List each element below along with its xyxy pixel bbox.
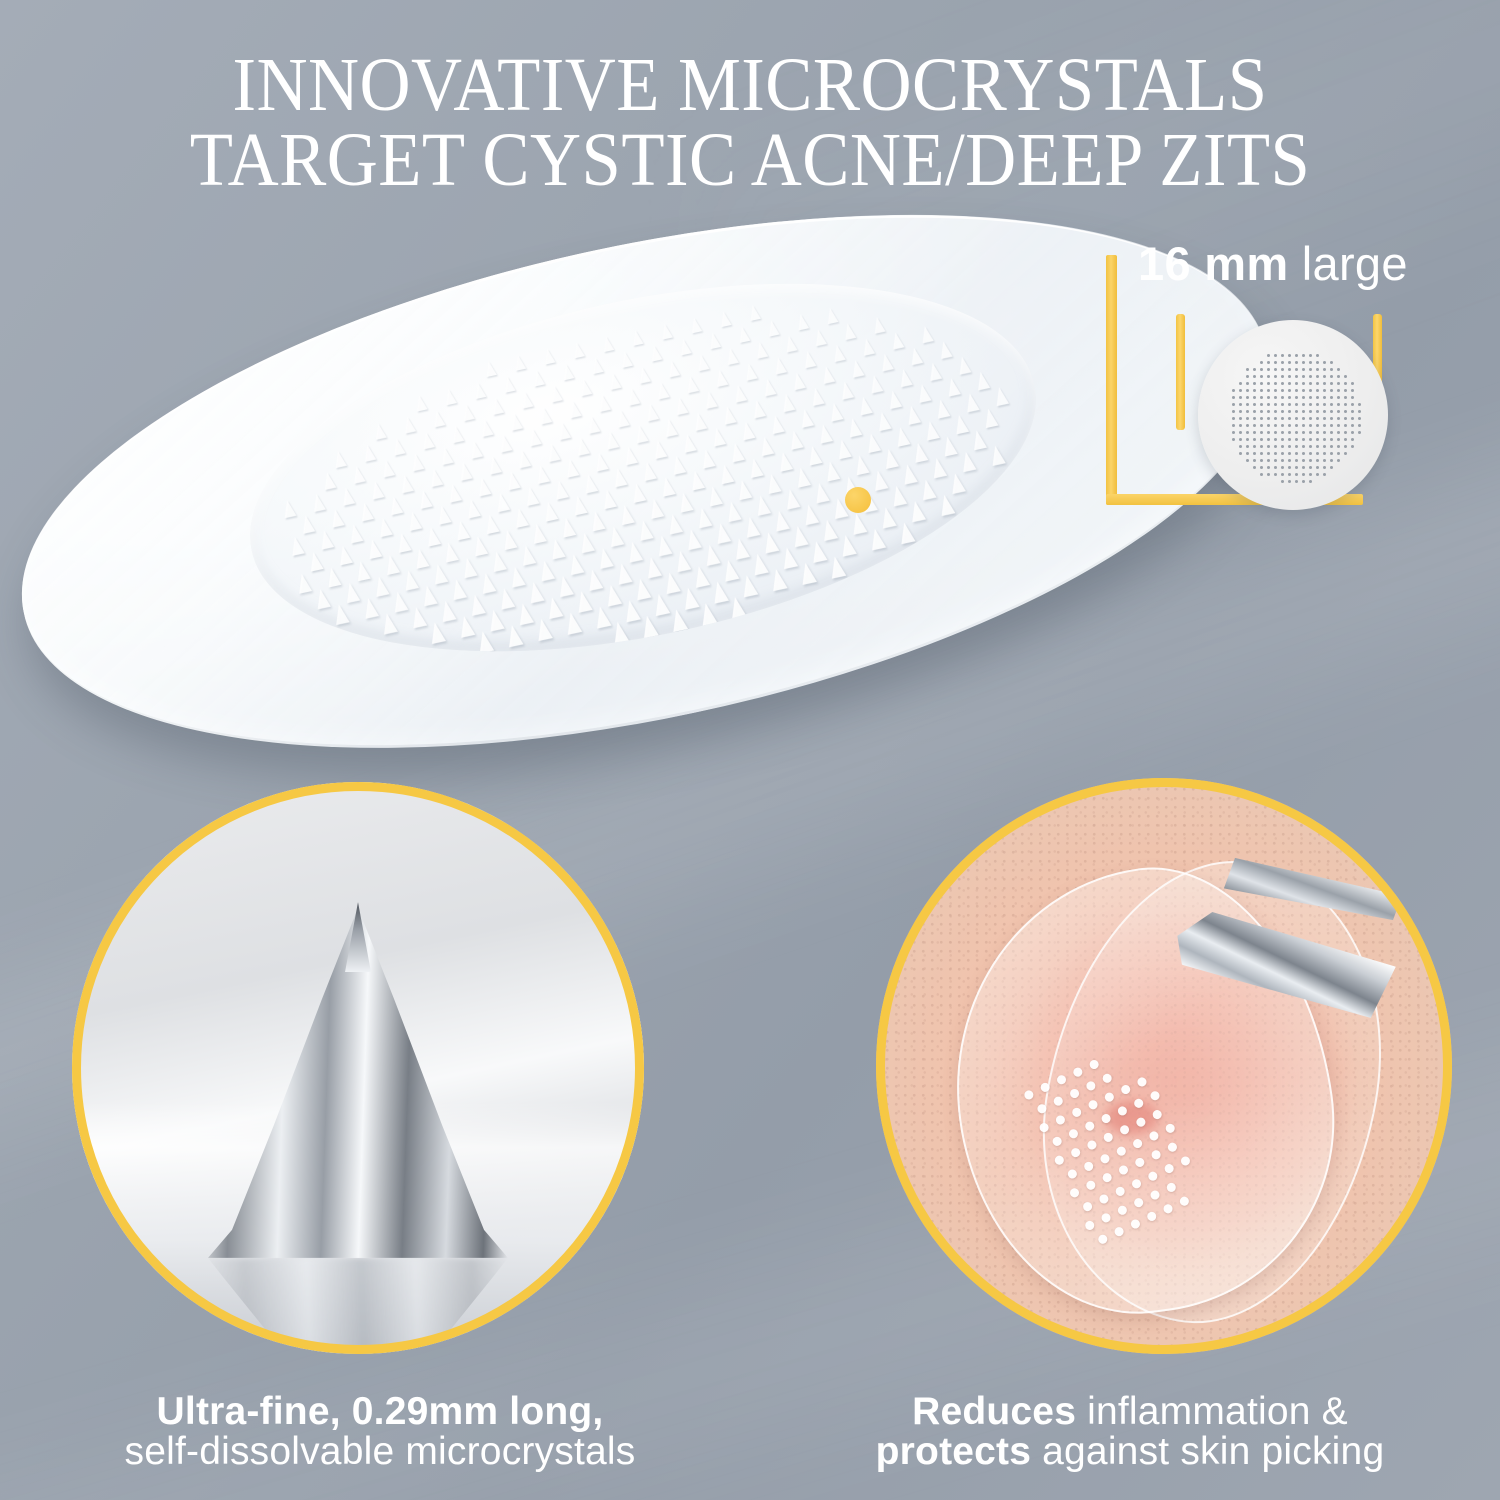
mini-patch-dot <box>1344 431 1347 434</box>
microneedle-cone-icon <box>611 620 630 644</box>
microneedle-cone-icon <box>560 516 577 537</box>
microneedle-cone-icon <box>365 538 382 559</box>
patch-microneedle-dot <box>1178 1195 1190 1207</box>
microneedle-cone-icon <box>706 485 723 506</box>
mini-patch-dot <box>1288 396 1291 399</box>
mini-patch-dot <box>1302 473 1305 476</box>
mini-patch-dot <box>1260 361 1263 364</box>
mini-patch-dot <box>1316 438 1319 441</box>
microneedle-cone-icon <box>710 580 729 604</box>
mini-patch-dot <box>1232 431 1235 434</box>
mini-patch-dot <box>1316 389 1319 392</box>
caption-right-line-1: Reduces inflammation & <box>770 1392 1490 1432</box>
mini-patch-dot <box>1295 417 1298 420</box>
mini-patch-dot <box>1260 452 1263 455</box>
patch-microneedle-dot <box>1056 1074 1068 1086</box>
mini-patch-dot <box>1330 459 1333 462</box>
mini-patch-dot <box>1281 417 1284 420</box>
microneedle-cone-icon <box>630 329 643 346</box>
mini-patch-dot <box>1302 417 1305 420</box>
mini-patch-dot <box>1309 410 1312 413</box>
microneedle-cone-icon <box>501 529 518 550</box>
microneedle-cone-icon <box>872 316 886 334</box>
patch-microneedle-dot <box>1131 1178 1143 1190</box>
mini-patch-dot <box>1302 445 1305 448</box>
microneedle-cone-icon <box>648 498 665 519</box>
mini-patch-dot <box>1337 417 1340 420</box>
microneedle-cone-icon <box>332 603 350 625</box>
mini-patch-dot <box>1302 382 1305 385</box>
microneedle-cone-icon <box>728 595 747 619</box>
microneedle-cone-icon <box>504 624 523 648</box>
mini-patch-circle-icon <box>1198 320 1388 510</box>
mini-patch-dot <box>1239 410 1242 413</box>
microneedle-cone-icon <box>563 458 579 478</box>
mini-patch-dot <box>1267 452 1270 455</box>
mini-patch-dot <box>1302 368 1305 371</box>
microneedle-cone-icon <box>351 465 366 484</box>
microneedle-cone-icon <box>696 353 710 371</box>
microneedle-cone-icon <box>607 525 624 547</box>
mini-patch-dot <box>1274 445 1277 448</box>
mini-patch-dot <box>1232 396 1235 399</box>
microneedle-cone-icon <box>717 464 734 485</box>
patch-microneedle-dot <box>1084 1219 1096 1231</box>
mini-patch-dot <box>1281 473 1284 476</box>
mini-patch-dot <box>1302 410 1305 413</box>
mini-patch-dot <box>1330 375 1333 378</box>
microneedle-cone-icon <box>483 513 500 534</box>
microneedle-cone-icon <box>691 565 709 588</box>
patch-microneedle-dot <box>1068 1128 1080 1140</box>
microneedle-cone-icon <box>776 451 793 472</box>
microneedle-cone-icon <box>402 416 416 434</box>
mini-patch-dot <box>1274 452 1277 455</box>
mini-patch-dot <box>1323 417 1326 420</box>
mini-patch-dot <box>1274 459 1277 462</box>
caption-right: Reduces inflammation & protects against … <box>770 1392 1490 1472</box>
mini-patch-dot <box>1246 382 1249 385</box>
microneedle-cone-icon <box>361 597 379 619</box>
microneedle-cone-icon <box>515 602 533 625</box>
microneedle-cone-icon <box>431 563 448 585</box>
mini-patch-dot <box>1295 375 1298 378</box>
microneedle-cone-icon <box>831 344 846 362</box>
patch-microneedle-dot <box>1163 1163 1175 1175</box>
microneedle-cone-icon <box>871 469 888 491</box>
microneedle-cone-icon <box>707 332 721 349</box>
mini-patch-dot <box>1260 382 1263 385</box>
microneedle-cone-icon <box>585 568 603 591</box>
microneedle-cone-icon <box>538 406 553 424</box>
mini-patch-dot <box>1260 410 1263 413</box>
microneedle-cone-icon <box>600 489 617 510</box>
patch-microneedle-dots <box>1023 1046 1197 1251</box>
mini-patch-dot <box>1239 431 1242 434</box>
mini-patch-dot <box>1302 375 1305 378</box>
callout-measurement: 16 mm <box>1138 237 1288 290</box>
mini-patch-dot <box>1267 459 1270 462</box>
mini-patch-dot <box>1288 459 1291 462</box>
mini-patch-dot <box>1344 417 1347 420</box>
microneedle-cone-icon <box>545 596 563 619</box>
microneedle-cone-icon <box>754 494 771 516</box>
patch-microneedle-dot <box>1119 1124 1131 1136</box>
microneedle-cone-icon <box>468 593 486 616</box>
mini-patch-dot <box>1351 382 1354 385</box>
microneedle-cone-icon <box>509 412 524 430</box>
mini-patch-dot <box>1274 389 1277 392</box>
patch-microneedle-dot <box>1070 1147 1082 1159</box>
microneedle-cone-icon <box>773 356 788 374</box>
mini-patch-dot <box>1288 389 1291 392</box>
microneedle-cone-icon <box>919 325 934 343</box>
mini-patch-dot <box>1337 452 1340 455</box>
mini-patch-dot <box>1344 438 1347 441</box>
mini-patch-dot <box>1246 417 1249 420</box>
mini-patch-dot <box>1330 389 1333 392</box>
microneedle-cone-icon <box>475 477 491 497</box>
microneedle-cone-icon <box>688 470 705 491</box>
measure-tick-left-icon <box>1176 314 1185 430</box>
microneedle-cone-icon <box>486 608 504 631</box>
microneedle-cone-icon <box>758 436 774 456</box>
microneedle-cone-icon <box>839 380 854 399</box>
microneedle-cone-icon <box>747 457 764 478</box>
mini-patch-dot <box>1246 375 1249 378</box>
mini-patch-dot <box>1295 473 1298 476</box>
mini-patch-dot <box>1288 354 1291 357</box>
mini-patch-dot <box>1358 410 1361 413</box>
mini-patch-dot <box>1309 480 1312 483</box>
patch-microneedle-dot <box>1082 1201 1094 1213</box>
microneedle-cone-icon <box>699 448 715 468</box>
microneedle-cone-icon <box>531 369 545 386</box>
patch-microneedle-dot <box>1103 1091 1115 1103</box>
patch-microneedle-dot <box>1071 1106 1083 1118</box>
mini-patch-dot <box>1274 431 1277 434</box>
microneedle-cone-icon <box>868 374 883 393</box>
mini-patch-dot <box>1309 389 1312 392</box>
mini-patch-dot <box>1337 368 1340 371</box>
mini-patch-dot <box>1330 466 1333 469</box>
microneedle-cone-icon <box>893 426 910 447</box>
mini-patch-dot <box>1232 389 1235 392</box>
mini-patch-dot <box>1337 431 1340 434</box>
patch-microneedle-dot <box>1148 1130 1160 1142</box>
mini-patch-dot <box>1267 438 1270 441</box>
mini-patch-dot <box>1337 375 1340 378</box>
microneedle-cone-icon <box>666 360 680 378</box>
microneedle-cone-icon <box>853 454 870 475</box>
microneedle-cone-icon <box>783 488 800 510</box>
mini-patch-dot <box>1323 368 1326 371</box>
microneedle-cone-icon <box>534 464 550 484</box>
microneedle-cone-icon <box>461 403 475 421</box>
microneedle-cone-icon <box>373 575 390 597</box>
microneedle-cone-icon <box>750 552 768 575</box>
microneedle-cone-icon <box>593 452 609 472</box>
microneedle-cone-icon <box>457 615 475 638</box>
mini-patch-dot <box>1288 466 1291 469</box>
microneedle-cone-icon <box>391 437 406 455</box>
mini-patch-dot <box>1274 361 1277 364</box>
mini-patch-dot <box>1351 396 1354 399</box>
mini-patch-dot <box>1246 403 1249 406</box>
mini-patch-dot <box>1302 389 1305 392</box>
patch-microneedle-dot <box>1051 1135 1063 1147</box>
mini-patch-dot <box>1274 466 1277 469</box>
microneedle-cone-icon <box>861 337 876 355</box>
mini-patch-dot <box>1274 368 1277 371</box>
microneedle-cone-icon <box>629 482 646 503</box>
mini-patch-dot <box>1267 361 1270 364</box>
mini-patch-dot <box>1239 382 1242 385</box>
patch-microneedle-dot <box>1102 1131 1114 1143</box>
mini-patch-dot <box>1274 417 1277 420</box>
microneedle-cone-icon <box>802 350 817 368</box>
mini-patch-dot <box>1351 438 1354 441</box>
microneedle-cone-icon <box>685 375 700 393</box>
mini-patch-dot <box>1302 431 1305 434</box>
callout-qualifier: large <box>1288 237 1407 290</box>
patch-microneedle-dot <box>1149 1090 1161 1102</box>
microneedle-cone-icon <box>948 472 966 494</box>
mini-patch-dot <box>1281 480 1284 483</box>
microneedle-cone-icon <box>875 411 891 431</box>
mini-patch-dot <box>1253 403 1256 406</box>
microneedle-cone-icon <box>692 412 707 431</box>
microneedle-cone-icon <box>857 396 873 416</box>
microneedle-cone-icon <box>970 429 987 450</box>
mini-patch-dot <box>1330 452 1333 455</box>
patch-microneedle-dot <box>1036 1103 1048 1115</box>
microneedle-cone-icon <box>519 544 536 566</box>
mini-patch-dot <box>1337 424 1340 427</box>
mini-patch-dot <box>1337 438 1340 441</box>
microneedle-cone-icon <box>743 362 758 380</box>
mini-patch-dot <box>1281 452 1284 455</box>
microneedle-cone-icon <box>421 431 436 449</box>
microneedle-cone-icon <box>516 449 531 468</box>
microneedle-cone-icon <box>828 402 844 422</box>
mini-patch-dot <box>1344 403 1347 406</box>
mini-patch-dot <box>1232 438 1235 441</box>
mini-patch-dot <box>1267 396 1270 399</box>
microneedle-cone-icon <box>314 588 331 610</box>
mini-patch-dot <box>1246 431 1249 434</box>
microneedle-cone-icon <box>725 347 739 365</box>
microneedle-cone-icon <box>347 523 363 543</box>
microneedle-cone-icon <box>677 338 691 355</box>
mini-patch-dot <box>1309 354 1312 357</box>
microneedle-cone-icon <box>651 439 667 459</box>
mini-patch-dot <box>1302 452 1305 455</box>
patch-microneedle-dot <box>1098 1193 1110 1205</box>
mini-patch-dot <box>1260 424 1263 427</box>
microneedle-cone-icon <box>526 581 544 604</box>
mini-patch-dot <box>1316 375 1319 378</box>
mini-patch-dot <box>1309 431 1312 434</box>
microneedle-cone-icon <box>541 501 558 522</box>
microneedle-cone-icon <box>680 586 699 610</box>
patch-microneedle-dot <box>1116 1105 1128 1117</box>
microneedle-cone-icon <box>402 569 419 591</box>
mini-patch-dot <box>1267 445 1270 448</box>
mini-patch-dot <box>1260 389 1263 392</box>
microneedle-cone-icon <box>615 409 630 428</box>
microneedle-cone-icon <box>739 574 758 598</box>
microneedle-cone-icon <box>376 517 392 537</box>
mini-patch-dot <box>1267 417 1270 420</box>
mini-patch-dot <box>1309 382 1312 385</box>
mini-patch-dot <box>1239 396 1242 399</box>
mini-patch-dot <box>1274 375 1277 378</box>
microneedle-cone-icon <box>479 572 497 594</box>
mini-patch-dot <box>1309 417 1312 420</box>
microneedle-cone-icon <box>321 471 336 490</box>
mini-patch-dot <box>1323 438 1326 441</box>
microneedle-cone-icon <box>673 550 691 573</box>
mini-patch-dot <box>1246 410 1249 413</box>
microneedle-cone-icon <box>662 571 680 594</box>
microneedle-cone-icon <box>728 442 744 462</box>
mini-patch-dot <box>1337 389 1340 392</box>
mini-patch-dot <box>1323 452 1326 455</box>
mini-patch-dot <box>1295 410 1298 413</box>
mini-patch-dot <box>1316 403 1319 406</box>
caption-left-line-2: self-dissolvable microcrystals <box>20 1432 740 1472</box>
microneedle-cone-icon <box>809 387 824 406</box>
mini-patch-dot <box>1281 431 1284 434</box>
microneedle-cone-icon <box>498 434 513 453</box>
mini-patch-dot <box>1337 445 1340 448</box>
microneedle-cone-icon <box>655 381 670 399</box>
microneedle-cone-icon <box>563 611 582 635</box>
patch-microneedle-dot <box>1135 1116 1147 1128</box>
mini-patch-dot <box>1309 452 1312 455</box>
microneedle-cone-icon <box>640 461 656 481</box>
mini-patch-dot <box>1239 452 1242 455</box>
microneedle-cone-icon <box>794 466 811 487</box>
mini-patch-dot <box>1267 368 1270 371</box>
microneedle-cone-icon <box>677 491 694 512</box>
mini-patch-dot <box>1323 473 1326 476</box>
microneedle-cone-icon <box>567 553 585 575</box>
mini-patch-dot <box>1344 452 1347 455</box>
mini-patch-dot <box>1302 438 1305 441</box>
mini-patch-dot <box>1253 382 1256 385</box>
mini-patch-dot <box>1246 424 1249 427</box>
mini-patch-dot <box>1323 375 1326 378</box>
mini-patch-dot <box>1309 361 1312 364</box>
mini-patch-dot <box>1330 417 1333 420</box>
mini-patch-dot <box>1288 410 1291 413</box>
microneedle-cone-icon <box>798 408 814 428</box>
mini-patch-dot <box>1274 424 1277 427</box>
microneedle-cone-icon <box>380 612 398 635</box>
mini-patch-dot <box>1316 354 1319 357</box>
mini-patch-dot <box>1351 431 1354 434</box>
caption-left-line-1: Ultra-fine, 0.29mm long, <box>20 1392 740 1432</box>
microneedle-cone-icon <box>299 514 315 534</box>
patch-microneedle-dot <box>1151 1109 1163 1121</box>
mini-patch-dot <box>1246 368 1249 371</box>
mini-patch-dot <box>1274 396 1277 399</box>
mini-patch-dot <box>1337 382 1340 385</box>
microneedle-cone-icon <box>718 310 731 327</box>
patch-microneedle-dot <box>1115 1145 1127 1157</box>
mini-patch-dot <box>1351 424 1354 427</box>
microneedle-cone-icon <box>420 584 438 606</box>
microneedle-cone-icon <box>549 384 563 402</box>
size-callout: 16 mm large <box>1090 236 1490 536</box>
mini-patch-dot <box>1295 354 1298 357</box>
microneedle-cone-icon <box>670 455 686 475</box>
mini-patch-dot <box>1330 361 1333 364</box>
microneedle-cone-icon <box>890 331 905 349</box>
microneedle-cone-icon <box>989 444 1006 466</box>
mini-patch-dot <box>1323 466 1326 469</box>
mini-patch-dot <box>1309 403 1312 406</box>
microneedle-cone-icon <box>651 593 670 617</box>
microneedle-cone-icon <box>542 348 555 365</box>
callout-label: 16 mm large <box>1138 236 1408 291</box>
mini-patch-dot <box>1323 382 1326 385</box>
microneedle-cone-icon <box>486 455 501 474</box>
mini-patch-dot <box>1302 361 1305 364</box>
microneedle-cone-icon <box>589 357 603 374</box>
microneedle-cone-icon <box>689 317 702 334</box>
microneedle-cone-icon <box>597 394 612 412</box>
mini-patch-dot <box>1288 361 1291 364</box>
microneedle-cone-icon <box>813 482 830 504</box>
microneedle-cone-icon <box>934 398 950 418</box>
inset-microneedle-closeup <box>72 782 644 1354</box>
microneedle-cone-icon <box>600 335 613 352</box>
microneedle-cone-icon <box>787 430 803 450</box>
microneedle-cone-icon <box>453 520 470 541</box>
mini-patch-dot <box>1253 389 1256 392</box>
mini-patch-dot <box>1344 382 1347 385</box>
microneedle-cone-icon <box>586 415 601 434</box>
patch-microneedle-dot <box>1146 1210 1158 1222</box>
microneedle-cone-icon <box>838 534 856 557</box>
patch-microneedle-dot <box>1039 1081 1051 1093</box>
patch-microneedle-dot <box>1167 1141 1179 1153</box>
microneedle-cone-icon <box>736 479 753 500</box>
microneedle-cone-icon <box>714 369 729 387</box>
mini-patch-dot <box>1281 466 1284 469</box>
microneedle-cone-icon <box>571 342 584 359</box>
microneedle-cone-icon <box>952 414 969 435</box>
mini-patch-dot <box>1358 417 1361 420</box>
patch-microneedle-dot <box>1147 1170 1159 1182</box>
microneedle-cone-icon <box>663 418 678 437</box>
microneedle-cone-icon <box>461 556 478 578</box>
mini-patch-dot <box>1330 410 1333 413</box>
mini-patch-dot <box>1260 375 1263 378</box>
mini-patch-dot <box>1302 480 1305 483</box>
mini-patch-dot <box>1288 417 1291 420</box>
microneedle-cone-icon <box>457 461 472 480</box>
mini-patch-dot <box>1309 396 1312 399</box>
patch-microneedle-dot <box>1100 1112 1112 1124</box>
mini-patch-dot <box>1281 396 1284 399</box>
mini-patch-dot <box>1316 417 1319 420</box>
mini-patch-dot <box>1260 368 1263 371</box>
mini-patch-dot <box>1316 445 1319 448</box>
